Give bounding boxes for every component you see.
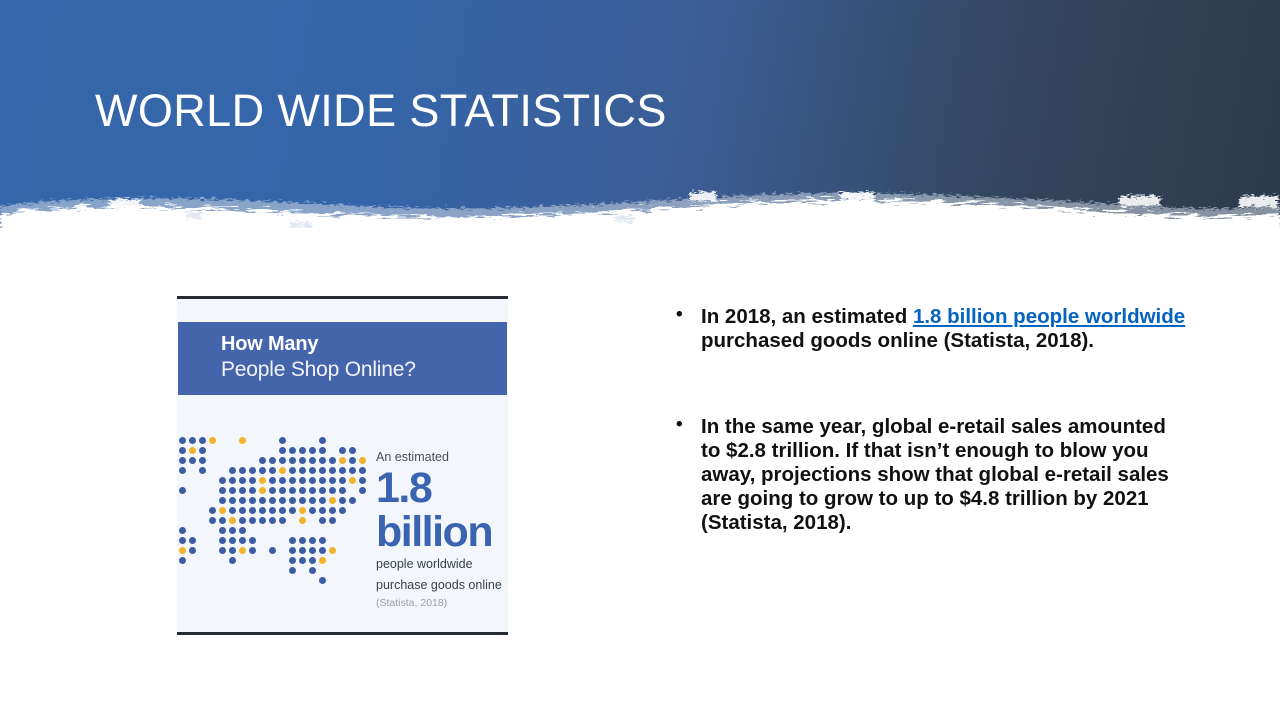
map-dot — [259, 517, 266, 524]
stat-value-line2: billion — [376, 513, 508, 553]
world-dot-map — [179, 437, 369, 587]
stat-caption-line2: purchase goods online — [376, 578, 508, 594]
map-dot — [269, 497, 276, 504]
map-dot — [309, 547, 316, 554]
map-dot — [189, 447, 196, 454]
infographic-card: How Many People Shop Online? An estimate… — [177, 296, 508, 635]
map-dot — [339, 477, 346, 484]
stat-block: An estimated 1.8 billion people worldwid… — [376, 449, 508, 609]
map-dot — [209, 517, 216, 524]
map-dot — [269, 467, 276, 474]
map-dot — [329, 477, 336, 484]
map-dot — [249, 547, 256, 554]
map-dot — [319, 467, 326, 474]
map-dot — [309, 507, 316, 514]
map-dot — [269, 547, 276, 554]
map-dot — [319, 457, 326, 464]
map-dot — [319, 577, 326, 584]
map-dot — [249, 537, 256, 544]
map-dot — [309, 487, 316, 494]
map-dot — [299, 477, 306, 484]
map-dot — [269, 487, 276, 494]
map-dot — [339, 507, 346, 514]
map-dot — [299, 447, 306, 454]
map-dot — [309, 467, 316, 474]
map-dot — [219, 537, 226, 544]
map-dot — [259, 507, 266, 514]
infographic-body: How Many People Shop Online? An estimate… — [177, 299, 508, 632]
map-dot — [289, 497, 296, 504]
map-dot — [349, 477, 356, 484]
map-dot — [319, 537, 326, 544]
map-dot — [229, 477, 236, 484]
map-dot — [219, 497, 226, 504]
map-dot — [289, 557, 296, 564]
map-dot — [319, 507, 326, 514]
map-dot — [319, 497, 326, 504]
map-dot — [309, 497, 316, 504]
page-title: WORLD WIDE STATISTICS — [95, 86, 667, 136]
map-dot — [189, 437, 196, 444]
map-dot — [259, 467, 266, 474]
map-dot — [209, 437, 216, 444]
map-dot — [239, 507, 246, 514]
map-dot — [279, 467, 286, 474]
map-dot — [279, 437, 286, 444]
map-dot — [269, 517, 276, 524]
map-dot — [279, 497, 286, 504]
map-dot — [299, 497, 306, 504]
map-dot — [249, 517, 256, 524]
map-dot — [299, 457, 306, 464]
map-dot — [179, 437, 186, 444]
map-dot — [329, 497, 336, 504]
map-dot — [289, 447, 296, 454]
map-dot — [189, 547, 196, 554]
map-dot — [299, 507, 306, 514]
map-dot — [279, 457, 286, 464]
map-dot — [329, 507, 336, 514]
map-dot — [229, 507, 236, 514]
map-dot — [329, 487, 336, 494]
map-dot — [359, 457, 366, 464]
map-dot — [309, 537, 316, 544]
map-dot — [339, 447, 346, 454]
map-dot — [189, 537, 196, 544]
stat-source: (Statista, 2018) — [376, 597, 508, 609]
map-dot — [279, 507, 286, 514]
map-dot — [359, 477, 366, 484]
map-dot — [179, 537, 186, 544]
map-dot — [229, 557, 236, 564]
map-dot — [309, 457, 316, 464]
map-dot — [319, 487, 326, 494]
map-dot — [309, 557, 316, 564]
map-dot — [329, 547, 336, 554]
map-dot — [229, 497, 236, 504]
map-dot — [319, 517, 326, 524]
map-dot — [289, 507, 296, 514]
map-dot — [289, 567, 296, 574]
map-dot — [249, 497, 256, 504]
map-dot — [209, 507, 216, 514]
map-dot — [249, 467, 256, 474]
bullet-text: In the same year, global e-retail sales … — [701, 415, 1169, 534]
map-dot — [339, 467, 346, 474]
map-dot — [269, 477, 276, 484]
map-dot — [179, 527, 186, 534]
map-dot — [289, 547, 296, 554]
map-dot — [249, 507, 256, 514]
map-dot — [319, 447, 326, 454]
map-dot — [179, 447, 186, 454]
map-dot — [219, 527, 226, 534]
map-dot — [289, 537, 296, 544]
map-dot — [199, 437, 206, 444]
map-dot — [239, 547, 246, 554]
map-dot — [269, 507, 276, 514]
map-dot — [339, 487, 346, 494]
stat-caption-line1: people worldwide — [376, 557, 508, 573]
map-dot — [239, 527, 246, 534]
map-dot — [349, 457, 356, 464]
map-dot — [259, 497, 266, 504]
map-dot — [239, 537, 246, 544]
map-dot — [179, 467, 186, 474]
map-dot — [339, 457, 346, 464]
map-dot — [199, 447, 206, 454]
map-dot — [299, 557, 306, 564]
slide-canvas: WORLD WIDE STATISTICS — [0, 0, 1280, 720]
map-dot — [359, 487, 366, 494]
map-dot — [239, 437, 246, 444]
bullet-text: purchased goods online (Statista, 2018). — [701, 329, 1094, 352]
map-dot — [279, 487, 286, 494]
map-dot — [299, 537, 306, 544]
map-dot — [349, 467, 356, 474]
map-dot — [179, 487, 186, 494]
map-dot — [269, 457, 276, 464]
map-dot — [189, 457, 196, 464]
map-dot — [319, 547, 326, 554]
map-dot — [229, 487, 236, 494]
map-dot — [229, 547, 236, 554]
map-dot — [219, 477, 226, 484]
map-dot — [299, 547, 306, 554]
map-dot — [299, 517, 306, 524]
map-dot — [179, 547, 186, 554]
map-dot — [319, 477, 326, 484]
map-dot — [309, 477, 316, 484]
map-dot — [219, 547, 226, 554]
map-dot — [239, 497, 246, 504]
map-dot — [219, 507, 226, 514]
map-dot — [259, 477, 266, 484]
title-banner: WORLD WIDE STATISTICS — [0, 0, 1280, 238]
map-dot — [279, 447, 286, 454]
stat-value-line1: 1.8 — [376, 469, 508, 509]
map-dot — [329, 467, 336, 474]
map-dot — [259, 457, 266, 464]
map-dot — [289, 467, 296, 474]
infographic-header: How Many People Shop Online? — [178, 322, 507, 395]
map-dot — [179, 457, 186, 464]
map-dot — [359, 467, 366, 474]
map-dot — [329, 457, 336, 464]
map-dot — [239, 467, 246, 474]
map-dot — [319, 437, 326, 444]
map-dot — [229, 467, 236, 474]
map-dot — [229, 537, 236, 544]
bullet-text: In 2018, an estimated — [701, 305, 913, 328]
map-dot — [289, 487, 296, 494]
map-dot — [339, 497, 346, 504]
map-dot — [349, 497, 356, 504]
map-dot — [199, 467, 206, 474]
map-dot — [259, 487, 266, 494]
map-dot — [239, 477, 246, 484]
map-dot — [349, 447, 356, 454]
bullet-item: In 2018, an estimated 1.8 billion people… — [672, 305, 1187, 353]
map-dot — [239, 517, 246, 524]
map-dot — [299, 467, 306, 474]
map-dot — [329, 517, 336, 524]
card-bottom-rule — [177, 632, 508, 635]
torn-paper-edge — [0, 166, 1280, 238]
map-dot — [239, 487, 246, 494]
infographic-header-line1: How Many — [221, 333, 318, 356]
map-dot — [309, 447, 316, 454]
inline-link[interactable]: 1.8 billion people worldwide — [913, 305, 1185, 328]
map-dot — [289, 457, 296, 464]
map-dot — [299, 487, 306, 494]
map-dot — [229, 517, 236, 524]
map-dot — [179, 557, 186, 564]
infographic-header-line2: People Shop Online? — [221, 358, 416, 382]
map-dot — [309, 567, 316, 574]
map-dot — [199, 457, 206, 464]
bullet-item: In the same year, global e-retail sales … — [672, 415, 1187, 535]
map-dot — [279, 517, 286, 524]
map-dot — [219, 487, 226, 494]
map-dot — [249, 487, 256, 494]
map-dot — [319, 557, 326, 564]
map-dot — [219, 517, 226, 524]
map-dot — [229, 527, 236, 534]
map-dot — [289, 477, 296, 484]
stat-pretext: An estimated — [376, 449, 508, 465]
map-dot — [249, 477, 256, 484]
bullet-list: In 2018, an estimated 1.8 billion people… — [672, 305, 1187, 535]
map-dot — [279, 477, 286, 484]
